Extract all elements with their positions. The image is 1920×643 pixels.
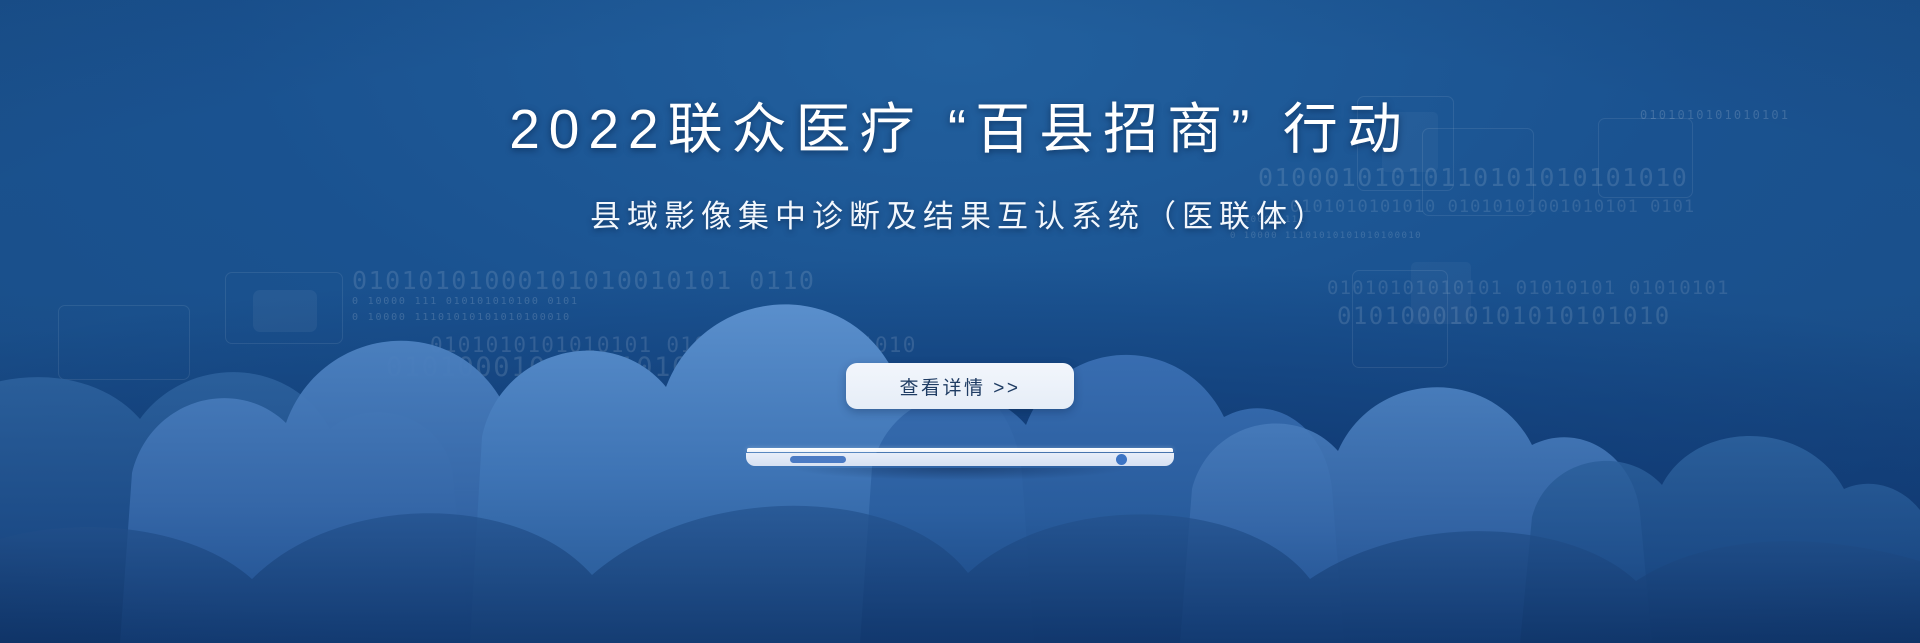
banner-subtitle: 县域影像集中诊断及结果互认系统（医联体） [0, 191, 1920, 236]
device-indicator-pill [790, 456, 846, 463]
laptop-base-illustration [746, 448, 1174, 470]
view-details-label: 查看详情 >> [900, 373, 1021, 400]
view-details-button[interactable]: 查看详情 >> [846, 363, 1074, 409]
banner-title: 2022联众医疗 “百县招商” 行动 [0, 98, 1920, 161]
device-indicator-dot [1116, 454, 1127, 465]
headline-block: 2022联众医疗 “百县招商” 行动 县域影像集中诊断及结果互认系统（医联体） [0, 98, 1920, 236]
device-screen-edge [747, 448, 1173, 452]
background-vignette [0, 0, 1920, 643]
promo-banner: 01010101000101010010101 0110 0 10000 111… [0, 0, 1920, 643]
device-shadow [725, 468, 1195, 502]
